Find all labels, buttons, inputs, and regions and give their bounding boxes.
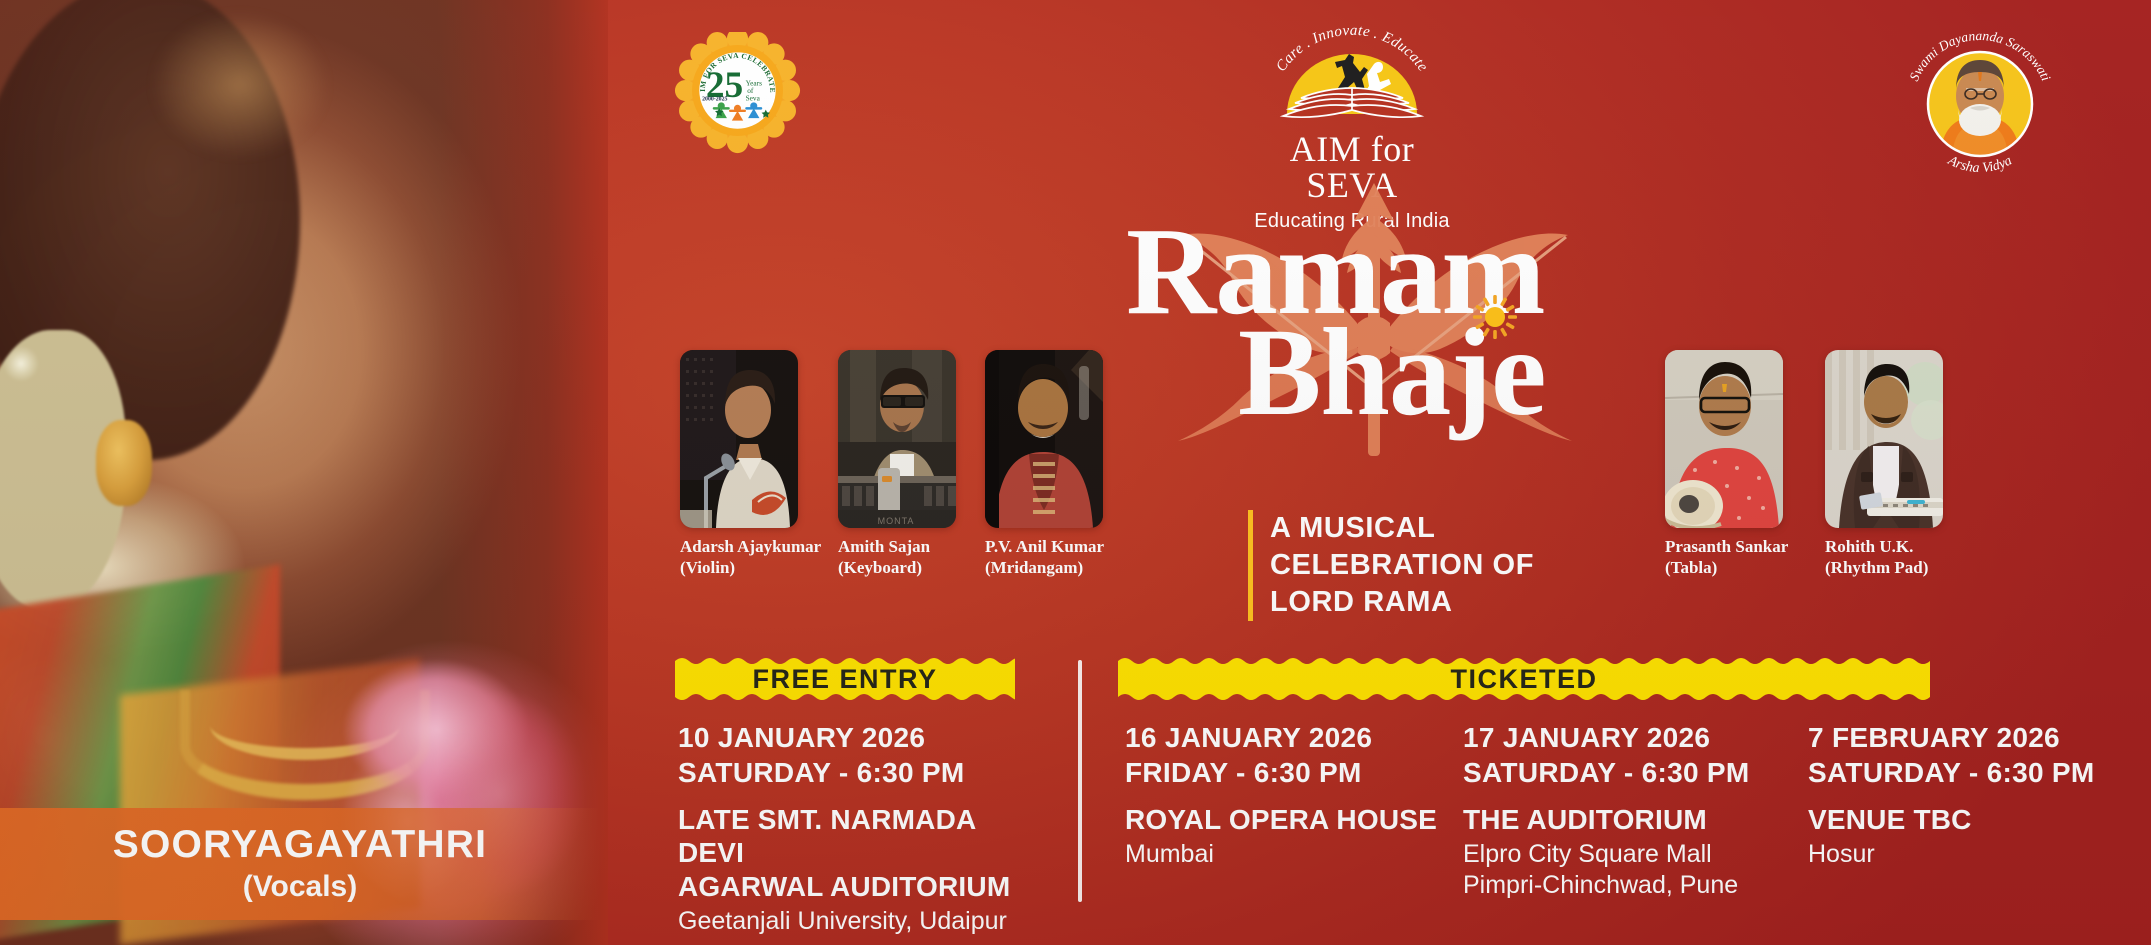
event-venue-line-1: ROYAL OPERA HOUSE (1125, 803, 1445, 837)
keyboardist-photo-icon: MONTA (838, 350, 956, 528)
subtitle-line-2: CELEBRATION OF (1270, 547, 1534, 584)
lead-artist-portrait: SOORYAGAYATHRI (Vocals) (0, 0, 608, 945)
org-logo: Care . Innovate . Educate AIM for SEVA E… (1247, 26, 1457, 176)
artist-card: MONTA Amith Sajan (Keyboard) (838, 350, 956, 578)
artist-role: (Keyboard) (838, 558, 956, 579)
event-subtitle: A MUSICAL CELEBRATION OF LORD RAMA (1248, 510, 1534, 621)
lead-artist-nameplate: SOORYAGAYATHRI (Vocals) (0, 808, 600, 920)
svg-text:2000-2025: 2000-2025 (702, 96, 727, 102)
event-poster: SOORYAGAYATHRI (Vocals) (0, 0, 2151, 945)
event-date: 16 JANUARY 2026 (1125, 720, 1445, 755)
title-block: Ramam Bhaje (1120, 215, 1740, 615)
artist-role: (Tabla) (1665, 558, 1783, 579)
title-line-2: Bhaje (1120, 316, 1740, 431)
free-entry-badge: FREE ENTRY (675, 655, 1015, 703)
artist-role: (Mridangam) (985, 558, 1103, 579)
subtitle-line-1: A MUSICAL (1270, 510, 1534, 547)
svg-text:MONTA: MONTA (878, 516, 915, 526)
event-card: 7 FEBRUARY 2026 SATURDAY - 6:30 PM VENUE… (1808, 720, 2108, 870)
aim-for-seva-25-years-logo-icon: AIM FOR SEVA CELEBRATES 25 Years of Seva… (660, 32, 815, 162)
mridangam-artist-photo-icon (985, 350, 1103, 528)
violinist-photo-icon (680, 350, 798, 528)
sun-icon (1472, 294, 1518, 340)
portrait-vignette (0, 0, 608, 945)
swami-dayananda-saraswati-portrait-icon: Swami Dayananda Saraswati Arsha Vidya (1900, 24, 2060, 174)
artist-photo (680, 350, 798, 528)
artist-card: Rohith U.K. (Rhythm Pad) (1825, 350, 1943, 578)
artist-card: P.V. Anil Kumar (Mridangam) (985, 350, 1103, 578)
event-venue-line-1: LATE SMT. NARMADA DEVI (678, 803, 1038, 870)
artist-role: (Rhythm Pad) (1825, 558, 1943, 579)
artist-card: Prasanth Sankar (Tabla) (1665, 350, 1783, 578)
event-city-line-1: Elpro City Square Mall (1463, 839, 1793, 870)
event-venue-line-1: THE AUDITORIUM (1463, 803, 1793, 837)
artist-caption: P.V. Anil Kumar (Mridangam) (985, 537, 1103, 578)
event-card: 17 JANUARY 2026 SATURDAY - 6:30 PM THE A… (1463, 720, 1793, 900)
section-divider (1078, 660, 1082, 902)
artist-name: Prasanth Sankar (1665, 537, 1783, 558)
artist-photo: MONTA (838, 350, 956, 528)
event-title: Ramam Bhaje (1120, 215, 1740, 431)
event-venue-line-1: VENUE TBC (1808, 803, 2108, 837)
lead-artist-name: SOORYAGAYATHRI (113, 824, 487, 867)
aim-for-seva-sun-book-icon: Care . Innovate . Educate (1247, 26, 1457, 130)
event-day-time: SATURDAY - 6:30 PM (678, 755, 1038, 790)
artist-role: (Violin) (680, 558, 798, 579)
rhythm-pad-artist-photo-icon (1825, 350, 1943, 528)
event-city-line-1: Mumbai (1125, 839, 1445, 870)
event-date: 17 JANUARY 2026 (1463, 720, 1793, 755)
tabla-artist-photo-icon (1665, 350, 1783, 528)
event-card: 16 JANUARY 2026 FRIDAY - 6:30 PM ROYAL O… (1125, 720, 1445, 870)
event-city-line-1: Geetanjali University, Udaipur (678, 906, 1038, 937)
artist-photo (985, 350, 1103, 528)
artist-caption: Adarsh Ajaykumar (Violin) (680, 537, 798, 578)
artist-photo (1665, 350, 1783, 528)
artist-caption: Amith Sajan (Keyboard) (838, 537, 956, 578)
artist-caption: Prasanth Sankar (Tabla) (1665, 537, 1783, 578)
artist-name: Adarsh Ajaykumar (680, 537, 798, 558)
guru-logo: Swami Dayananda Saraswati Arsha Vidya (1900, 24, 2060, 174)
artist-caption: Rohith U.K. (Rhythm Pad) (1825, 537, 1943, 578)
artist-name: Amith Sajan (838, 537, 956, 558)
svg-text:Seva: Seva (746, 93, 761, 102)
event-date: 7 FEBRUARY 2026 (1808, 720, 2108, 755)
event-city-line-1: Hosur (1808, 839, 2108, 870)
event-day-time: FRIDAY - 6:30 PM (1125, 755, 1445, 790)
subtitle-line-3: LORD RAMA (1270, 584, 1534, 621)
event-card: 10 JANUARY 2026 SATURDAY - 6:30 PM LATE … (678, 720, 1038, 937)
event-day-time: SATURDAY - 6:30 PM (1463, 755, 1793, 790)
event-date: 10 JANUARY 2026 (678, 720, 1038, 755)
artist-name: Rohith U.K. (1825, 537, 1943, 558)
anniversary-logo: AIM FOR SEVA CELEBRATES 25 Years of Seva… (660, 32, 815, 162)
event-venue-line-2: AGARWAL AUDITORIUM (678, 870, 1038, 904)
lead-artist-role: (Vocals) (243, 870, 357, 904)
artist-name: P.V. Anil Kumar (985, 537, 1103, 558)
ticketed-badge: TICKETED (1118, 655, 1930, 703)
free-entry-label: FREE ENTRY (752, 664, 937, 695)
ticketed-label: TICKETED (1451, 664, 1598, 695)
artist-card: Adarsh Ajaykumar (Violin) (680, 350, 798, 578)
event-day-time: SATURDAY - 6:30 PM (1808, 755, 2108, 790)
event-city-line-2: Pimpri-Chinchwad, Pune (1463, 870, 1793, 901)
artist-photo (1825, 350, 1943, 528)
